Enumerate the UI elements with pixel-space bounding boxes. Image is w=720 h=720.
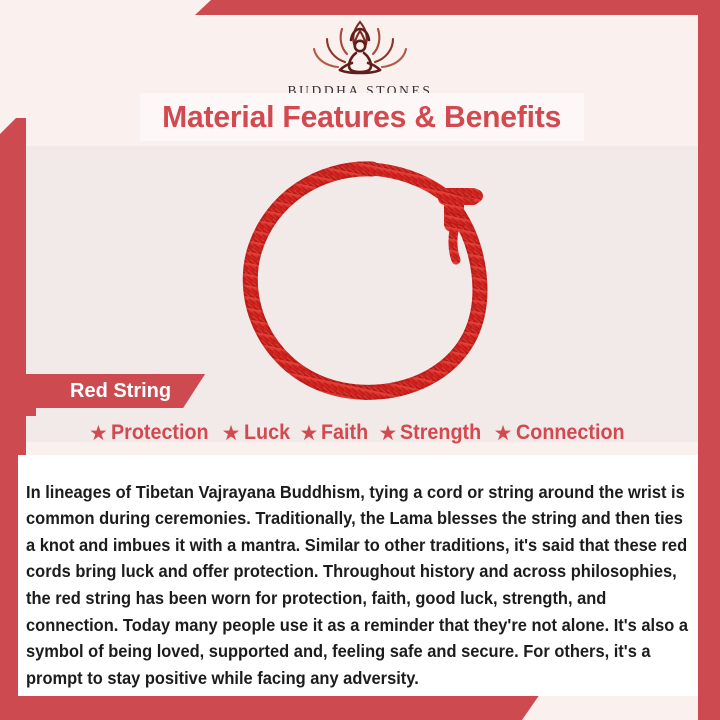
product-info-poster: BUDDHA STONES Material Features & Benefi… [0,0,720,720]
feature-list: ★ Protection ★ Luck ★ Faith ★ Strength ★… [26,421,694,445]
feature-label: Protection [111,421,209,445]
star-icon: ★ [300,423,319,444]
decorative-right-bar [698,0,720,720]
decorative-top-strip [195,0,720,15]
star-icon: ★ [379,423,398,444]
feature-label: Luck [244,421,290,445]
feature-item: ★ Faith [300,421,372,445]
feature-label: Strength [400,421,481,445]
brand-logo: BUDDHA STONES [0,18,720,99]
page-title: Material Features & Benefits [163,99,562,135]
feature-label: Faith [321,421,368,445]
feature-item: ★ Luck [222,421,293,445]
red-braided-string-bracelet-image [222,156,512,404]
product-name-banner: Red String [26,374,205,408]
description-text: In lineages of Tibetan Vajrayana Buddhis… [26,479,688,692]
feature-item: ★ Connection [494,421,631,445]
feature-label: Connection [516,421,625,445]
feature-item: ★ Protection [89,421,215,445]
feature-item: ★ Strength [379,421,487,445]
decorative-bottom-strip [0,694,540,720]
product-name-label: Red String [70,380,171,403]
star-icon: ★ [89,423,108,444]
star-icon: ★ [222,423,241,444]
lotus-meditation-figure-icon [294,18,426,80]
description-panel: In lineages of Tibetan Vajrayana Buddhis… [18,455,698,696]
star-icon: ★ [494,423,513,444]
page-title-panel: Material Features & Benefits [140,93,584,141]
